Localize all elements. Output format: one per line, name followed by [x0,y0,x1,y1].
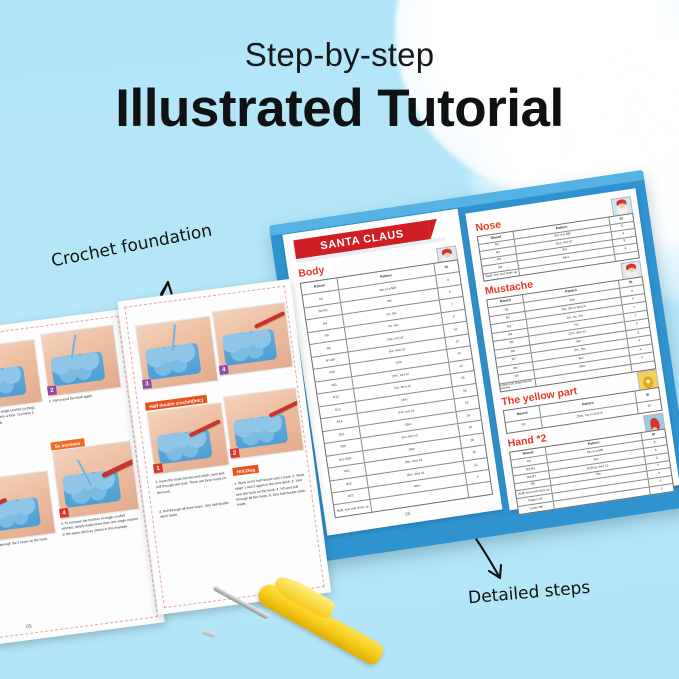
pattern-table-body: RoundPatternStR16sc in a MR6R2-R36sc6R4i… [300,259,493,518]
step-number: 1 [153,463,163,473]
step-number: 3 [142,379,152,389]
banner-tail [428,219,440,239]
page-number: 06 [405,511,411,518]
step-number: 4 [59,508,69,518]
step-number: 2 [230,448,240,458]
tutorial-photo [0,470,56,542]
section-title-body: Body [298,264,326,280]
hook-tip-icon [202,629,216,638]
page-number: 05 [26,624,32,631]
down-right-arrow-icon [470,534,530,590]
pattern-booklet[interactable]: SANTA CLAUS Body RoundPatternStR16sc in … [269,170,679,562]
step-number: 2 [47,385,57,395]
table-cell [467,482,492,497]
table-cell: 15 [637,399,661,413]
crochet-hook[interactable] [198,545,413,655]
subtitle-text: Step-by-step [0,36,679,74]
step-number: 4 [219,365,229,375]
screenshot-canvas: Step-by-step Illustrated Tutorial Croche… [0,0,679,679]
section-title-nose: Nose [475,219,502,235]
page-title: Illustrated Tutorial [0,78,679,139]
